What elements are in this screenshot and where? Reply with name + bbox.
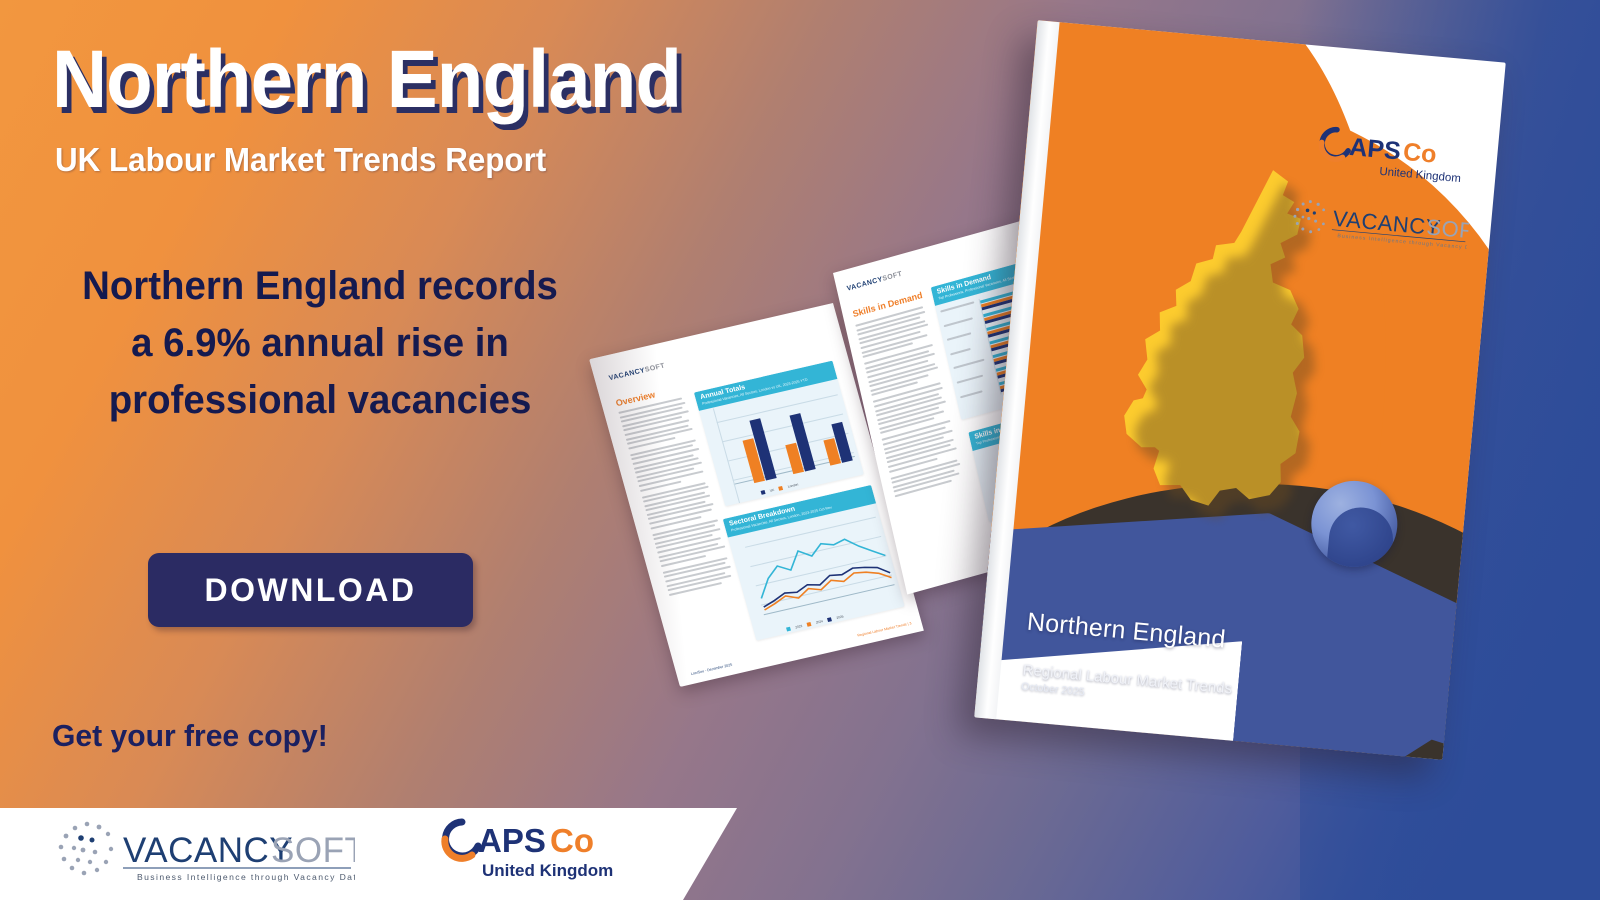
- footer-vacancysoft-logo[interactable]: VACANCY SOFT Business Intelligence throu…: [45, 818, 355, 888]
- banner-headline: Northern England records a 6.9% annual r…: [70, 258, 569, 429]
- apsco-logo-icon: APS Co United Kingdom: [432, 812, 622, 890]
- banner-title: Northern England: [52, 38, 681, 122]
- free-copy-text: Get your free copy!: [52, 718, 328, 754]
- banner-subtitle: UK Labour Market Trends Report: [55, 142, 546, 178]
- report-cover: APS Co United Kingdom VACANCY SOFT Busin…: [974, 20, 1506, 760]
- apsco-name-primary: APS: [478, 822, 546, 859]
- vacancysoft-logo-icon: VACANCY SOFT Business Intelligence throu…: [45, 818, 355, 888]
- svg-text:Co: Co: [1402, 138, 1438, 169]
- footer-apsco-logo[interactable]: APS Co United Kingdom: [432, 812, 622, 890]
- vacancysoft-name-primary: VACANCY: [123, 831, 293, 870]
- download-button-label: DOWNLOAD: [205, 572, 417, 609]
- svg-text:United Kingdom: United Kingdom: [1379, 166, 1462, 185]
- open-report-spread: VACANCYSOFT Overview: [575, 255, 1045, 655]
- apsco-region: United Kingdom: [482, 861, 613, 880]
- download-button[interactable]: DOWNLOAD: [148, 553, 473, 627]
- vacancysoft-tagline: Business Intelligence through Vacancy Da…: [137, 872, 355, 882]
- vacancysoft-name-secondary: SOFT: [271, 831, 355, 870]
- promo-banner: Northern England UK Labour Market Trends…: [0, 0, 1600, 900]
- apsco-name-secondary: Co: [550, 822, 594, 859]
- svg-text:APS: APS: [1348, 133, 1402, 166]
